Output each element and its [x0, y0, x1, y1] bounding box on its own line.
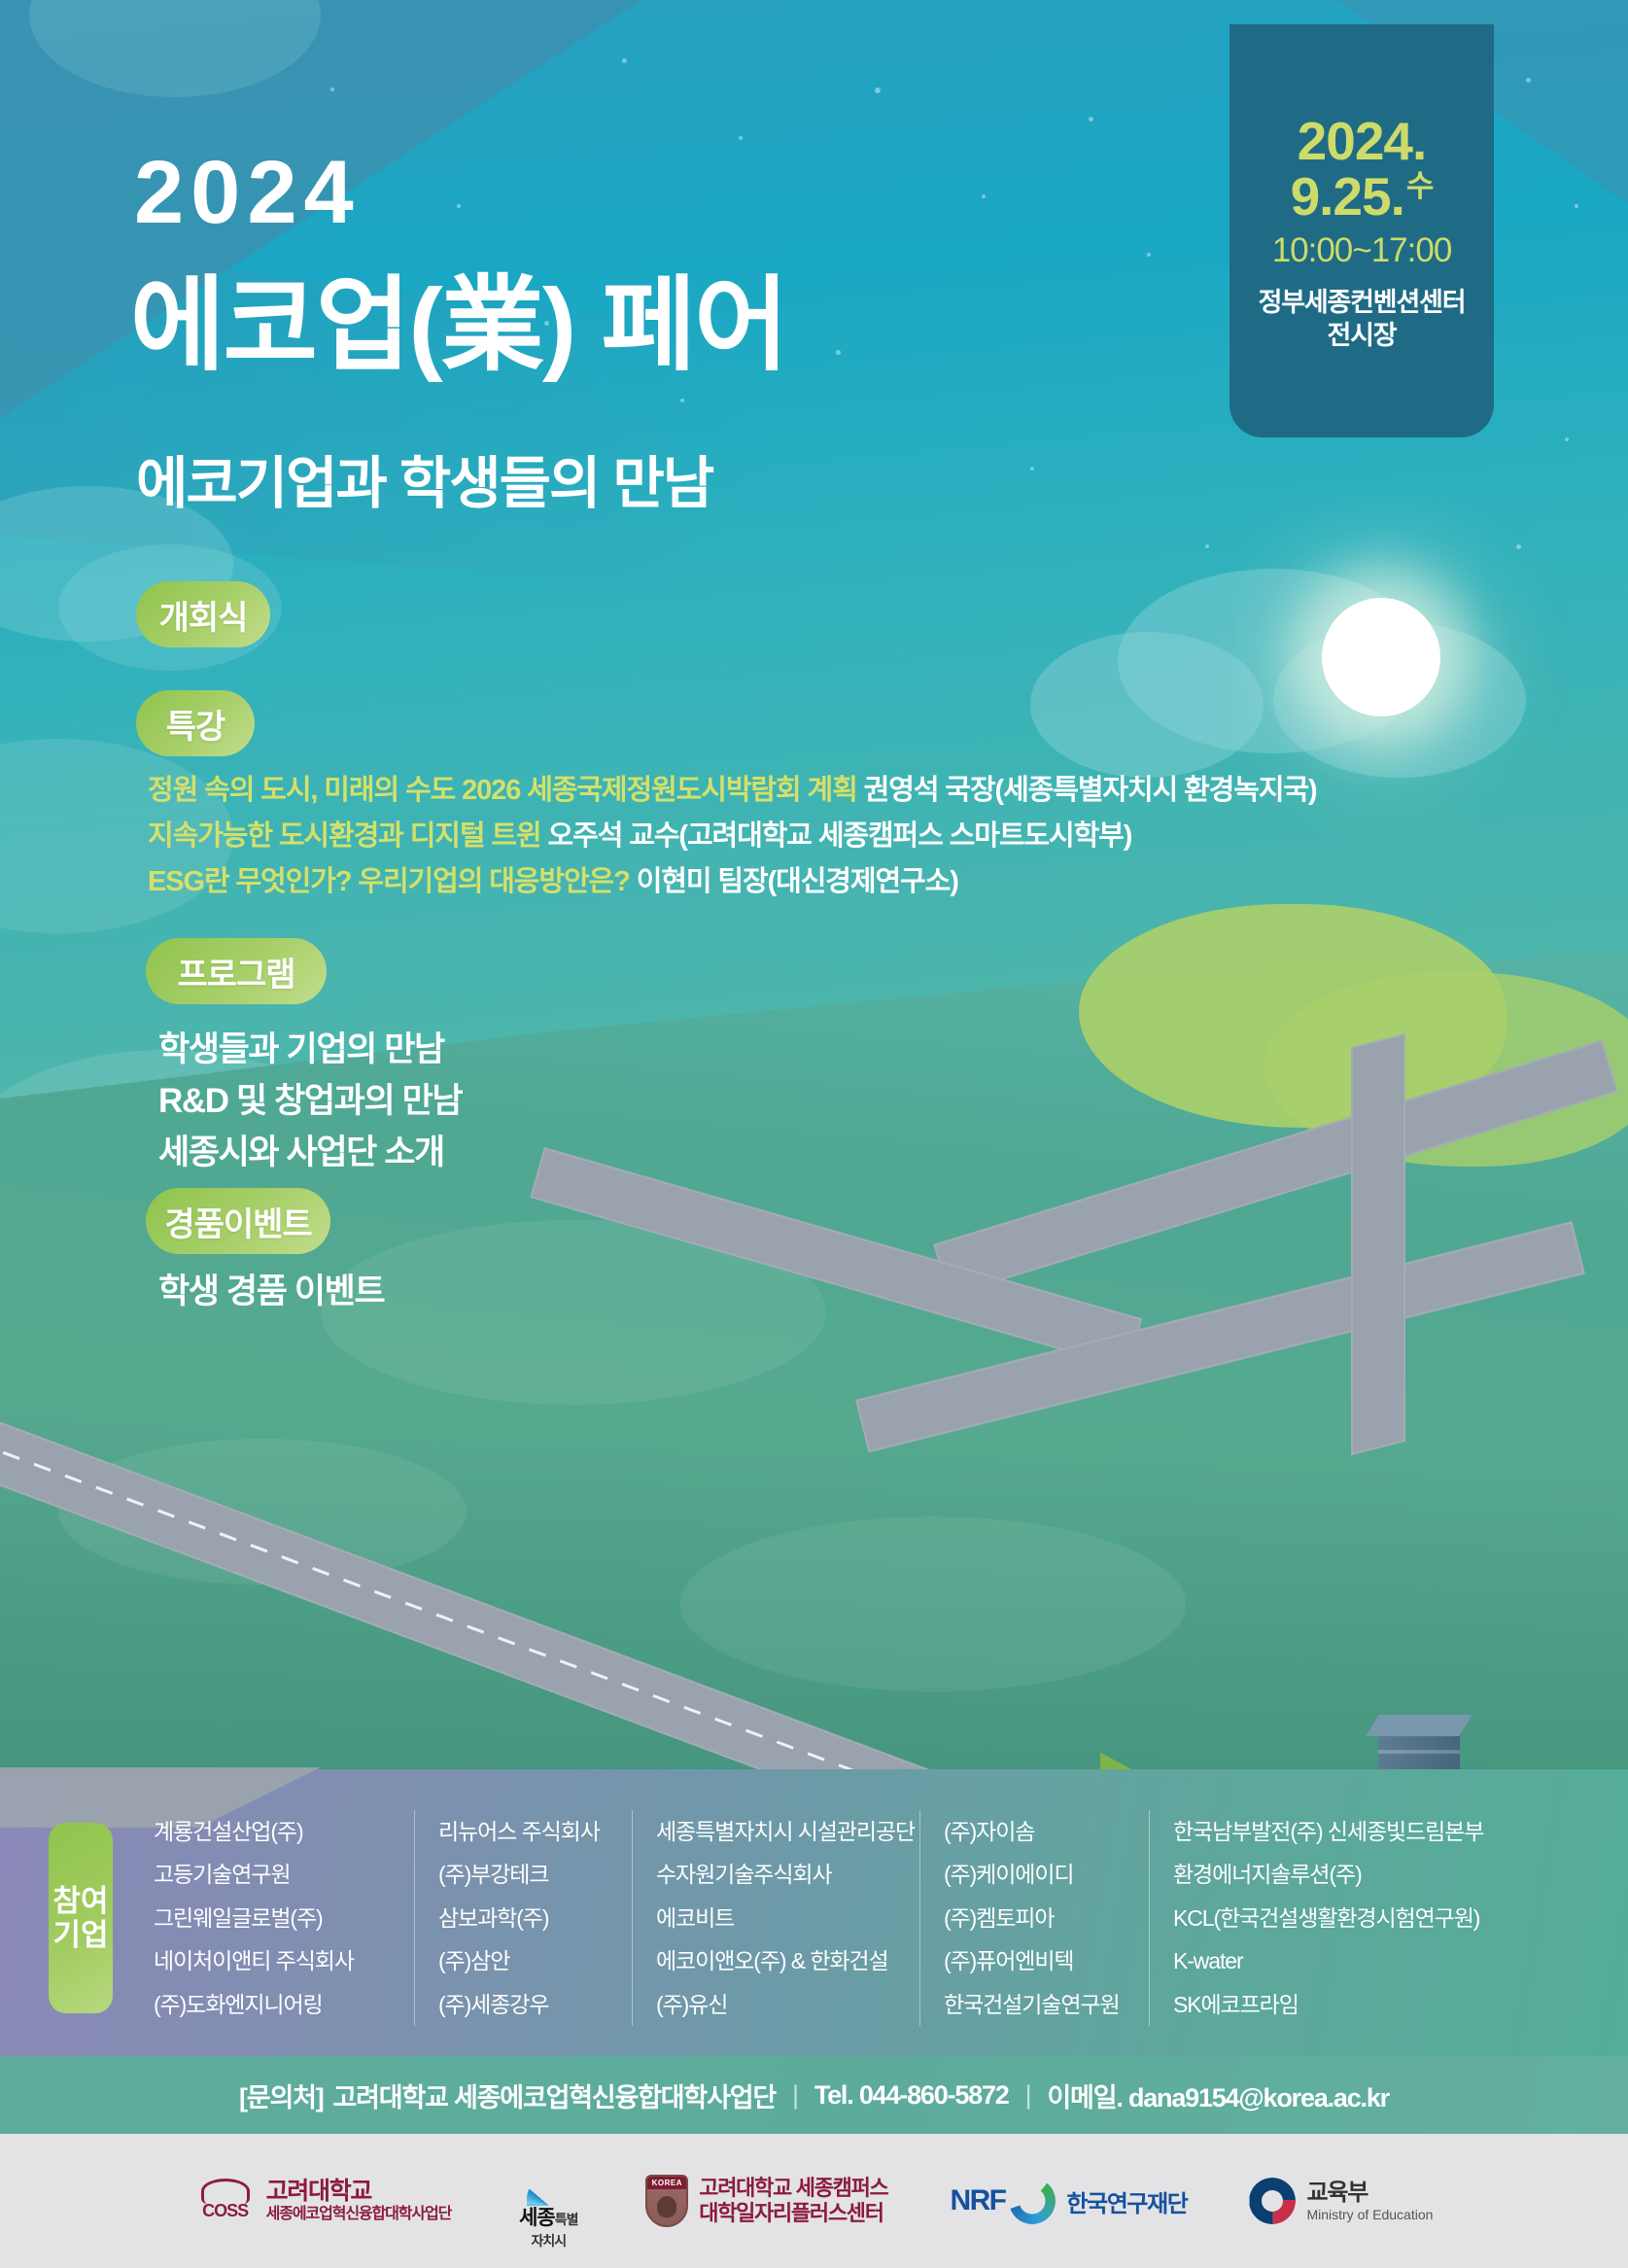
logo-sejong-city: 세종특별자치시 — [513, 2177, 583, 2225]
contact-bar: [문의처] 고려대학교 세종에코업혁신융합대학사업단 | Tel. 044-86… — [0, 2056, 1628, 2134]
company-name: 환경에너지솔루션(주) — [1173, 1853, 1495, 1896]
logo-line-2: 대학일자리플러스센터 — [699, 2201, 887, 2226]
event-time: 10:00~17:00 — [1230, 231, 1494, 270]
lecture-speaker: 권영석 국장(세종특별자치시 환경녹지국) — [864, 775, 1317, 806]
sejong-fan-mark-icon: 세종특별자치시 — [513, 2177, 583, 2225]
lecture-title: 정원 속의 도시, 미래의 수도 2026 세종국제정원도시박람회 계획 — [148, 775, 857, 806]
company-name: 네이처이앤티 주식회사 — [154, 1939, 391, 1982]
logo-ministry-of-education: 교육부 Ministry of Education — [1249, 2178, 1433, 2224]
company-name: (주)삼안 — [438, 1939, 608, 1982]
company-column: 리뉴어스 주식회사 (주)부강테크 삼보과학(주) (주)삼안 (주)세종강우 — [414, 1810, 632, 2026]
logo-line-2: 한국연구재단 — [1066, 2184, 1187, 2218]
company-name: 고등기술연구원 — [154, 1853, 391, 1896]
footer-logo-bar: COSS 고려대학교 세종에코업혁신융합대학사업단 세종특별자치시 KOREA … — [0, 2134, 1628, 2268]
contact-label: [문의처] — [239, 2076, 324, 2114]
section-badge-companies: 참여기업 — [49, 1823, 113, 2013]
company-name: 그린웨일글로벌(주) — [154, 1897, 391, 1939]
logo-line-1: 고려대학교 — [266, 2178, 452, 2207]
taegeuk-mark-icon — [1249, 2178, 1296, 2224]
logo-line-1: NRF — [951, 2184, 1006, 2217]
company-name: KCL(한국건설생활환경시험연구원) — [1173, 1897, 1495, 1939]
company-name: 한국남부발전(주) 신세종빛드림본부 — [1173, 1810, 1495, 1853]
poster-title: 에코업(業) 페어 — [130, 272, 787, 380]
lecture-title: 지속가능한 도시환경과 디지털 트윈 — [148, 820, 541, 852]
contact-divider-2: | — [1025, 2080, 1031, 2111]
logo-line-1: 세종 — [519, 2207, 555, 2229]
program-list: 학생들과 기업의 만남 R&D 및 창업과의 만남 세종시와 사업단 소개 — [158, 1024, 462, 1179]
ku-tiger-shield-mark-icon: KOREA — [645, 2175, 688, 2227]
logo-text: 고려대학교 세종캠퍼스 대학일자리플러스센터 — [699, 2176, 887, 2226]
company-name: SK에코프라임 — [1173, 1983, 1495, 2026]
section-badge-opening: 개회식 — [136, 581, 270, 647]
company-name: 계룡건설산업(주) — [154, 1810, 391, 1853]
lecture-item: 정원 속의 도시, 미래의 수도 2026 세종국제정원도시박람회 계획 권영석… — [148, 768, 1317, 814]
event-venue: 정부세종컨벤션센터 전시장 — [1230, 287, 1494, 353]
logo-line-1: 교육부 — [1306, 2180, 1433, 2207]
swoosh-icon — [1009, 2178, 1056, 2224]
lecture-speaker: 오주석 교수(고려대학교 세종캠퍼스 스마트도시학부) — [548, 820, 1132, 852]
logo-text: 고려대학교 세종에코업혁신융합대학사업단 — [266, 2178, 452, 2224]
program-item: R&D 및 창업과의 만남 — [158, 1075, 462, 1127]
lecture-title: ESG란 무엇인가? 우리기업의 대응방안은? — [148, 866, 630, 897]
company-name: (주)유신 — [656, 1983, 896, 2026]
coss-handshake-mark-icon: COSS — [195, 2178, 256, 2224]
lecture-list: 정원 속의 도시, 미래의 수도 2026 세종국제정원도시박람회 계획 권영석… — [148, 768, 1317, 905]
poster-year: 2024 — [134, 148, 361, 237]
company-column: 계룡건설산업(주) 고등기술연구원 그린웨일글로벌(주) 네이처이앤티 주식회사… — [154, 1810, 414, 2026]
company-name: K-water — [1173, 1939, 1495, 1982]
company-name: 수자원기술주식회사 — [656, 1853, 896, 1896]
prize-item: 학생 경품 이벤트 — [158, 1264, 384, 1313]
company-column: (주)자이솜 (주)케이에이디 (주)켐토피아 (주)퓨어엔비텍 한국건설기술연… — [919, 1810, 1149, 2026]
company-name: 삼보과학(주) — [438, 1897, 608, 1939]
logo-coss-korea-university: COSS 고려대학교 세종에코업혁신융합대학사업단 — [195, 2178, 452, 2224]
date-dow: 수 — [1406, 169, 1434, 203]
company-name: 한국건설기술연구원 — [944, 1983, 1126, 2026]
program-item: 세종시와 사업단 소개 — [158, 1127, 462, 1178]
nrf-swoosh-mark-icon: NRF — [951, 2178, 1056, 2224]
company-name: (주)케이에이디 — [944, 1853, 1126, 1896]
date-year: 2024. — [1230, 114, 1494, 169]
company-columns: 계룡건설산업(주) 고등기술연구원 그린웨일글로벌(주) 네이처이앤티 주식회사… — [154, 1810, 1582, 2026]
section-badge-program: 프로그램 — [146, 938, 327, 1004]
venue-line-2: 전시장 — [1230, 320, 1494, 353]
logo-ku-sejong-jobplus: KOREA 고려대학교 세종캠퍼스 대학일자리플러스센터 — [645, 2175, 887, 2227]
logo-line-2: Ministry of Education — [1306, 2207, 1433, 2223]
section-badge-prize: 경품이벤트 — [146, 1188, 330, 1254]
program-item: 학생들과 기업의 만남 — [158, 1024, 462, 1075]
company-column: 한국남부발전(주) 신세종빛드림본부 환경에너지솔루션(주) KCL(한국건설생… — [1149, 1810, 1518, 2026]
company-name: (주)도화엔지니어링 — [154, 1983, 391, 2026]
korea-university-banner: KOREA — [647, 2177, 686, 2189]
company-name: 에코비트 — [656, 1897, 896, 1939]
contact-divider-1: | — [792, 2080, 798, 2111]
logo-nrf: NRF 한국연구재단 — [951, 2178, 1188, 2224]
poster-root: ESG — [0, 0, 1628, 2268]
contact-email[interactable]: 이메일. dana9154@korea.ac.kr — [1047, 2076, 1389, 2114]
coss-wordmark: COSS — [195, 2201, 256, 2221]
company-name: (주)퓨어엔비텍 — [944, 1939, 1126, 1982]
company-name: 세종특별자치시 시설관리공단 — [656, 1810, 896, 1853]
company-name: (주)켐토피아 — [944, 1897, 1126, 1939]
company-name: (주)세종강우 — [438, 1983, 608, 2026]
date-month-day: 9.25.수 — [1230, 169, 1494, 225]
lecture-item: ESG란 무엇인가? 우리기업의 대응방안은? 이현미 팀장(대신경제연구소) — [148, 859, 1317, 905]
logo-line-1: 고려대학교 세종캠퍼스 — [699, 2176, 887, 2201]
lecture-item: 지속가능한 도시환경과 디지털 트윈 오주석 교수(고려대학교 세종캠퍼스 스마… — [148, 814, 1317, 859]
logo-line-2: 세종에코업혁신융합대학사업단 — [266, 2206, 452, 2224]
company-name: 리뉴어스 주식회사 — [438, 1810, 608, 1853]
logo-text: 교육부 Ministry of Education — [1306, 2180, 1433, 2223]
tiger-icon — [657, 2196, 676, 2217]
contact-org: 고려대학교 세종에코업혁신융합대학사업단 — [333, 2076, 776, 2114]
date-venue-box: 2024. 9.25.수 10:00~17:00 정부세종컨벤션센터 전시장 — [1230, 24, 1494, 437]
sejong-wordmark: 세종특별자치시 — [513, 2202, 583, 2251]
company-name: 에코이앤오(주) & 한화건설 — [656, 1939, 896, 1982]
contact-tel[interactable]: Tel. 044-860-5872 — [814, 2080, 1009, 2111]
company-name: (주)부강테크 — [438, 1853, 608, 1896]
date-md-text: 9.25. — [1291, 166, 1404, 227]
company-name: (주)자이솜 — [944, 1810, 1126, 1853]
section-badge-lecture: 특강 — [136, 690, 255, 756]
lecture-speaker: 이현미 팀장(대신경제연구소) — [637, 866, 958, 897]
venue-line-1: 정부세종컨벤션센터 — [1230, 287, 1494, 320]
company-column: 세종특별자치시 시설관리공단 수자원기술주식회사 에코비트 에코이앤오(주) &… — [632, 1810, 919, 2026]
poster-subtitle: 에코기업과 학생들의 만남 — [136, 437, 712, 519]
